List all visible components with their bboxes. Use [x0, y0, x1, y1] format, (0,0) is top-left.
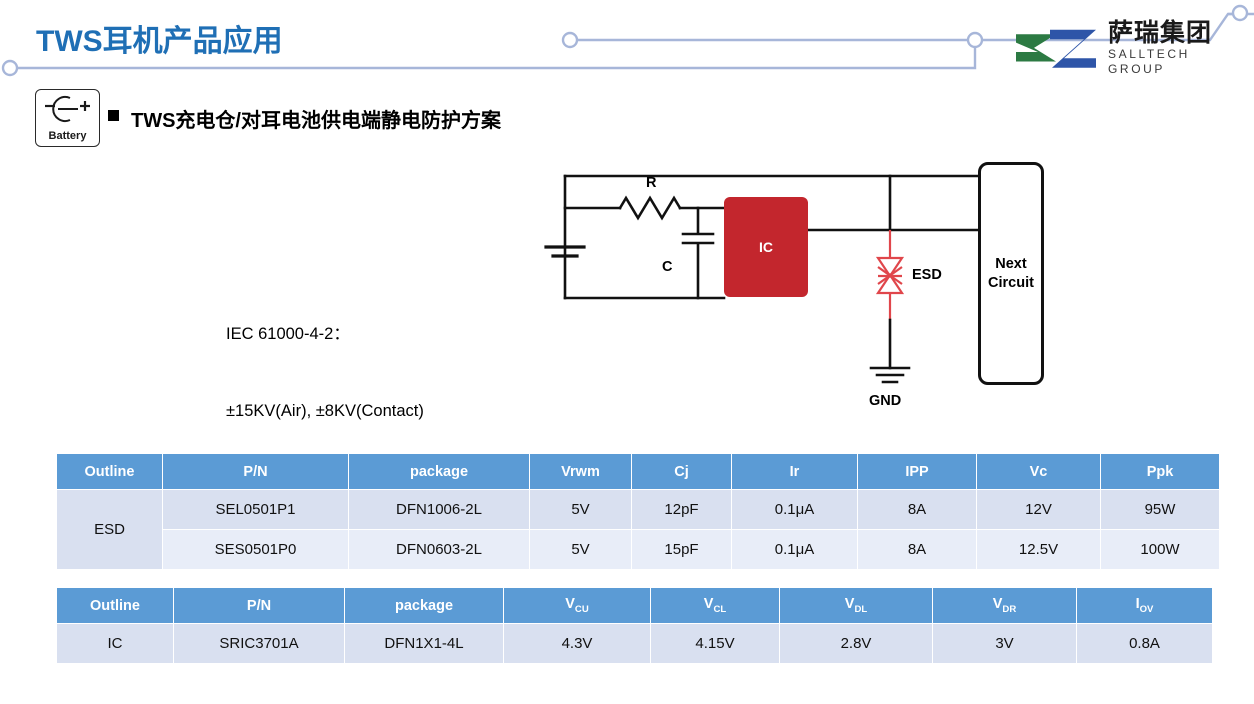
- ic-block: IC: [724, 197, 808, 297]
- cell-vdr: 3V: [933, 624, 1076, 663]
- cell-outline: ESD: [57, 490, 162, 569]
- cell-vcu: 4.3V: [504, 624, 650, 663]
- col-outline: Outline: [57, 454, 162, 489]
- cell-vdl: 2.8V: [780, 624, 932, 663]
- cell-ipp: 8A: [858, 490, 976, 529]
- resistor-label: R: [646, 175, 656, 191]
- col-ipp: IPP: [858, 454, 976, 489]
- col-vcu: VCU: [504, 588, 650, 623]
- next-circuit-line1: Next: [995, 256, 1026, 272]
- iec-note-line2: ±15KV(Air), ±8KV(Contact): [226, 399, 424, 425]
- deco-node-middle: [563, 33, 577, 47]
- col-outline: Outline: [57, 588, 173, 623]
- cell-vc: 12V: [977, 490, 1100, 529]
- col-vrwm: Vrwm: [530, 454, 631, 489]
- cell-pn: SEL0501P1: [163, 490, 348, 529]
- cell-iov: 0.8A: [1077, 624, 1212, 663]
- cell-package: DFN1006-2L: [349, 490, 529, 529]
- section-bullet-icon: [108, 110, 119, 121]
- brand-logo: 萨瑞集团 SALLTECH GROUP: [1012, 22, 1248, 74]
- col-vcl: VCL: [651, 588, 779, 623]
- cell-cj: 15pF: [632, 530, 731, 569]
- col-vc: Vc: [977, 454, 1100, 489]
- section-heading: TWS充电仓/对耳电池供电端静电防护方案: [131, 104, 501, 133]
- table-header-row: Outline P/N package VCU VCL VDL VDR IOV: [57, 588, 1212, 623]
- cell-pn: SRIC3701A: [174, 624, 344, 663]
- cell-vc: 12.5V: [977, 530, 1100, 569]
- table-row: SES0501P0 DFN0603-2L 5V 15pF 0.1μA 8A 12…: [57, 530, 1219, 569]
- col-iov: IOV: [1077, 588, 1212, 623]
- col-pn: P/N: [163, 454, 348, 489]
- capacitor-label: C: [662, 259, 672, 275]
- table-row: ESD SEL0501P1 DFN1006-2L 5V 12pF 0.1μA 8…: [57, 490, 1219, 529]
- next-circuit-line2: Circuit: [988, 275, 1034, 291]
- battery-badge-label: Battery: [36, 130, 99, 142]
- iec-note-line1: IEC 61000-4-2：: [226, 322, 424, 348]
- cell-cj: 12pF: [632, 490, 731, 529]
- table-header-row: Outline P/N package Vrwm Cj Ir IPP Vc Pp…: [57, 454, 1219, 489]
- esd-label: ESD: [912, 267, 942, 283]
- esd-spec-table: Outline P/N package Vrwm Cj Ir IPP Vc Pp…: [56, 453, 1220, 570]
- col-vdr: VDR: [933, 588, 1076, 623]
- iec-standard-note: IEC 61000-4-2： ±15KV(Air), ±8KV(Contact): [226, 271, 424, 450]
- cell-vcl: 4.15V: [651, 624, 779, 663]
- table-row: IC SRIC3701A DFN1X1-4L 4.3V 4.15V 2.8V 3…: [57, 624, 1212, 663]
- cell-package: DFN1X1-4L: [345, 624, 503, 663]
- cell-ppk: 95W: [1101, 490, 1219, 529]
- deco-node-corner: [1233, 6, 1247, 20]
- logo-name-cn: 萨瑞集团: [1108, 20, 1248, 46]
- cell-package: DFN0603-2L: [349, 530, 529, 569]
- battery-icon: [36, 92, 99, 128]
- salltech-logo-mark: [1012, 24, 1100, 72]
- col-package: package: [345, 588, 503, 623]
- cell-ir: 0.1μA: [732, 530, 857, 569]
- cell-ir: 0.1μA: [732, 490, 857, 529]
- gnd-label: GND: [869, 393, 901, 409]
- cell-vrwm: 5V: [530, 490, 631, 529]
- deco-node-right: [968, 33, 982, 47]
- cell-ppk: 100W: [1101, 530, 1219, 569]
- col-package: package: [349, 454, 529, 489]
- col-vdl: VDL: [780, 588, 932, 623]
- cell-vrwm: 5V: [530, 530, 631, 569]
- battery-badge: Battery: [35, 89, 100, 147]
- col-ppk: Ppk: [1101, 454, 1219, 489]
- cell-pn: SES0501P0: [163, 530, 348, 569]
- col-pn: P/N: [174, 588, 344, 623]
- col-ir: Ir: [732, 454, 857, 489]
- page-title: TWS耳机产品应用: [36, 16, 283, 60]
- ic-spec-table: Outline P/N package VCU VCL VDL VDR IOV …: [56, 587, 1213, 664]
- col-cj: Cj: [632, 454, 731, 489]
- deco-node-left: [3, 61, 17, 75]
- logo-name-en: SALLTECH GROUP: [1108, 47, 1248, 76]
- cell-outline: IC: [57, 624, 173, 663]
- next-circuit-block: Next Circuit: [978, 162, 1044, 385]
- esd-protection-schematic: R C ESD GND IC Next Circuit: [520, 150, 1120, 430]
- cell-ipp: 8A: [858, 530, 976, 569]
- logo-text: 萨瑞集团 SALLTECH GROUP: [1108, 20, 1248, 76]
